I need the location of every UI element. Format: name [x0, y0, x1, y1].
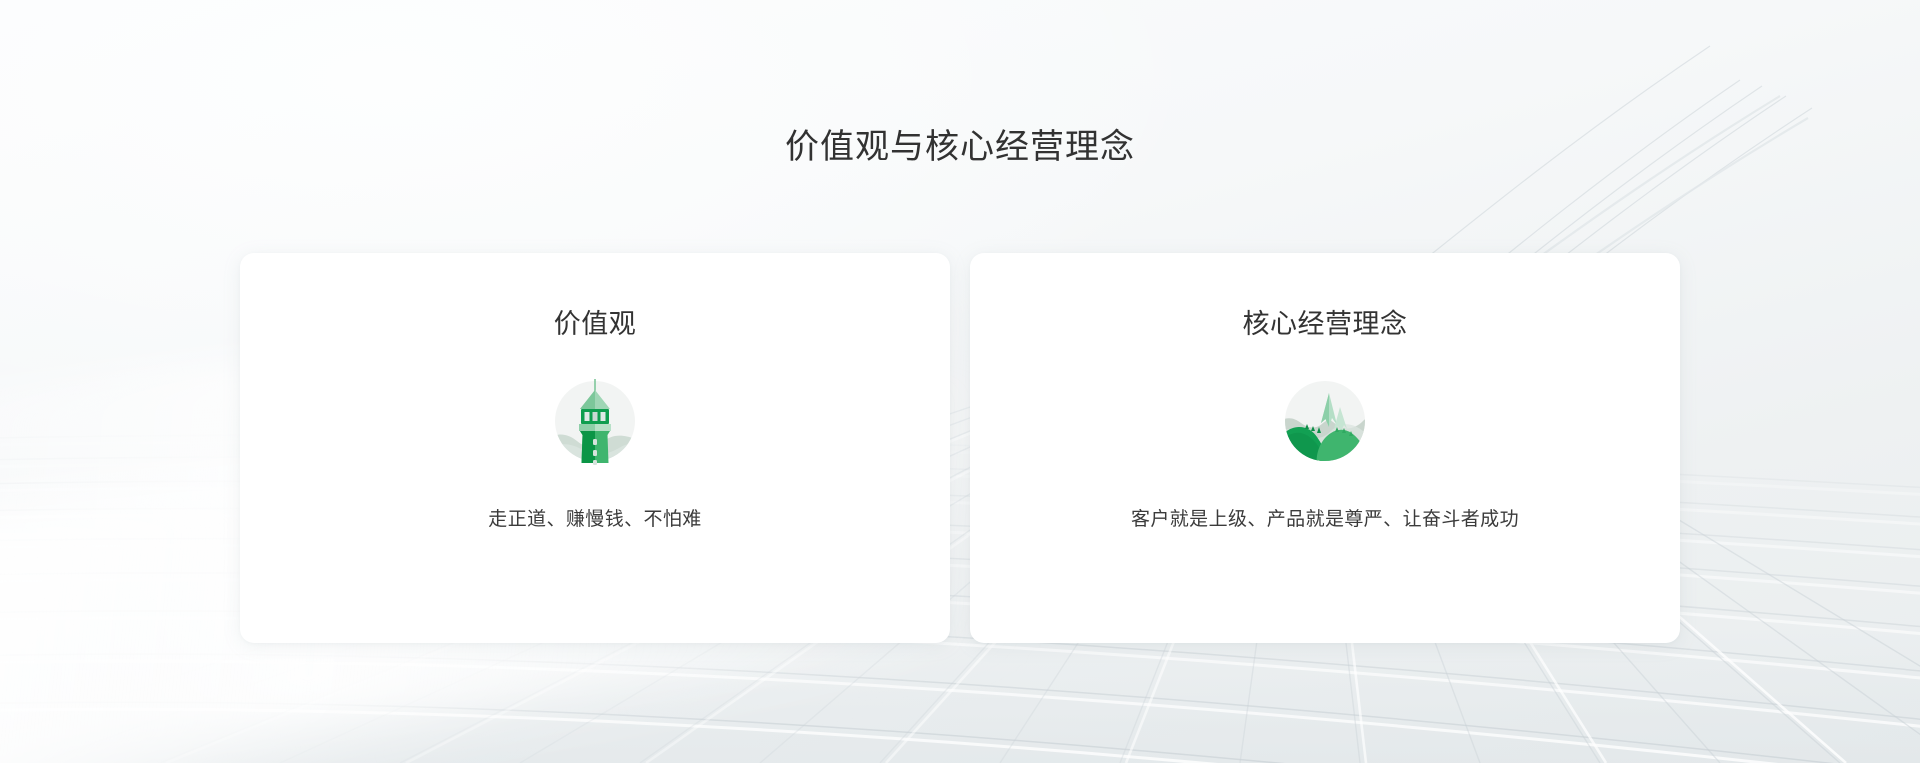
cards-container: 价值观: [240, 253, 1680, 643]
card-core-philosophy[interactable]: 核心经营理念: [970, 253, 1680, 643]
card-title: 核心经营理念: [1243, 305, 1408, 343]
card-description: 客户就是上级、产品就是尊严、让奋斗者成功: [1131, 505, 1519, 535]
lighthouse-icon: [547, 371, 643, 467]
card-title: 价值观: [554, 305, 637, 343]
mountain-icon: [1277, 371, 1373, 467]
page-title: 价值观与核心经营理念: [0, 123, 1920, 171]
page-stage: 价值观与核心经营理念 价值观: [0, 0, 1920, 763]
card-values[interactable]: 价值观: [240, 253, 950, 643]
card-description: 走正道、赚慢钱、不怕难: [488, 505, 701, 535]
